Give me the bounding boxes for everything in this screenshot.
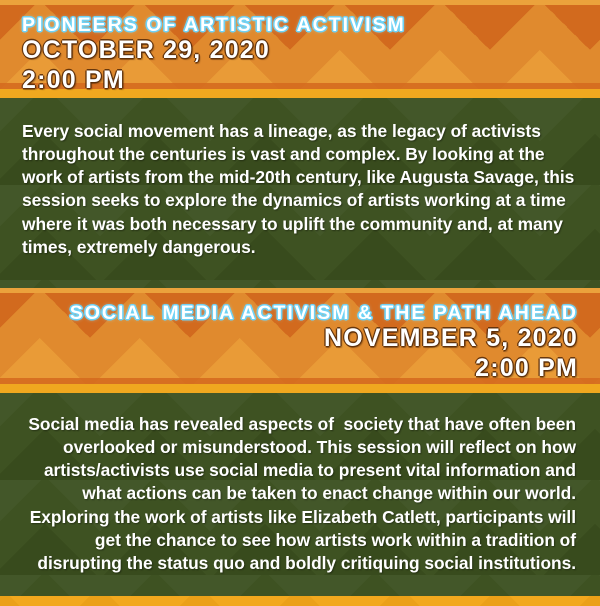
event-flyer: Pioneers of Artistic Activism October 29… <box>0 0 600 606</box>
banner-bottom-stripe <box>0 384 600 393</box>
session-2-time: 2:00 PM <box>0 354 578 384</box>
session-1-time: 2:00 PM <box>22 66 600 96</box>
session-2-heading-group: Social Media Activism & the Path Ahead N… <box>0 288 600 383</box>
session-1-heading-group: Pioneers of Artistic Activism October 29… <box>0 0 600 95</box>
session-2-date: November 5, 2020 <box>0 324 578 354</box>
session-1-description: Every social movement has a lineage, as … <box>0 98 600 259</box>
session-2-title: Social Media Activism & the Path Ahead <box>0 302 578 324</box>
session-2-description: Social media has revealed aspects of soc… <box>0 393 600 575</box>
session-1-date: October 29, 2020 <box>22 36 600 66</box>
session-1-body: Every social movement has a lineage, as … <box>0 98 600 288</box>
footer-triangle-pattern-icon <box>0 596 600 606</box>
session-1-title: Pioneers of Artistic Activism <box>22 14 600 36</box>
session-1-banner: Pioneers of Artistic Activism October 29… <box>0 0 600 98</box>
session-2-banner: Social Media Activism & the Path Ahead N… <box>0 288 600 393</box>
session-2-body: Social media has revealed aspects of soc… <box>0 393 600 596</box>
footer-gold-stripe <box>0 596 600 606</box>
